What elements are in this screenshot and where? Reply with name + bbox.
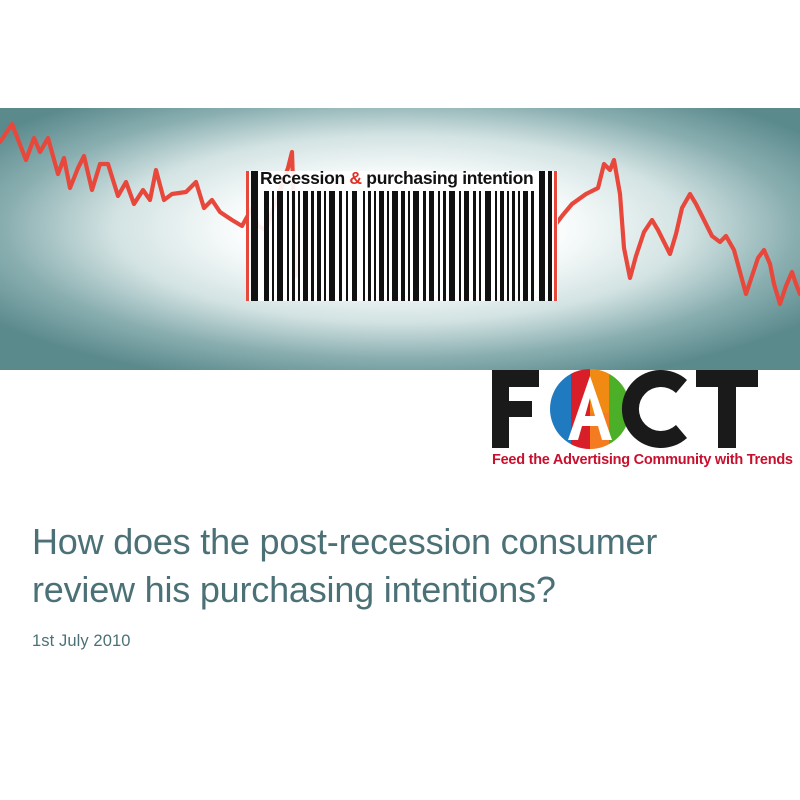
page-title-line-2: review his purchasing intentions?	[32, 569, 556, 610]
logo-letter-t	[696, 370, 758, 448]
page-title-line-1: How does the post-recession consumer	[32, 521, 657, 562]
logo-letter-a	[550, 369, 630, 449]
barcode-guard-left	[246, 171, 249, 301]
fact-logo: Feed the Advertising Community with Tren…	[490, 368, 790, 480]
barcode-label: Recession & purchasing intention	[260, 166, 542, 190]
barcode-label-suffix: purchasing intention	[362, 168, 534, 188]
logo-letter-f	[492, 370, 539, 448]
barcode-graphic: Recession & purchasing intention	[246, 166, 558, 301]
slide-root: Recession & purchasing intention	[0, 0, 800, 800]
presentation-date: 1st July 2010	[32, 632, 762, 651]
page-title: How does the post-recession consumerrevi…	[32, 518, 762, 614]
title-block: How does the post-recession consumerrevi…	[32, 518, 762, 651]
barcode-label-prefix: Recession	[260, 168, 349, 188]
fact-logo-mark	[490, 368, 790, 450]
barcode-label-ampersand: &	[349, 168, 361, 188]
barcode-bars	[246, 171, 558, 301]
recession-banner: Recession & purchasing intention	[0, 108, 800, 370]
fact-logo-tagline: Feed the Advertising Community with Tren…	[492, 452, 790, 468]
barcode-guard-right	[554, 171, 557, 301]
logo-letter-c	[622, 370, 687, 448]
